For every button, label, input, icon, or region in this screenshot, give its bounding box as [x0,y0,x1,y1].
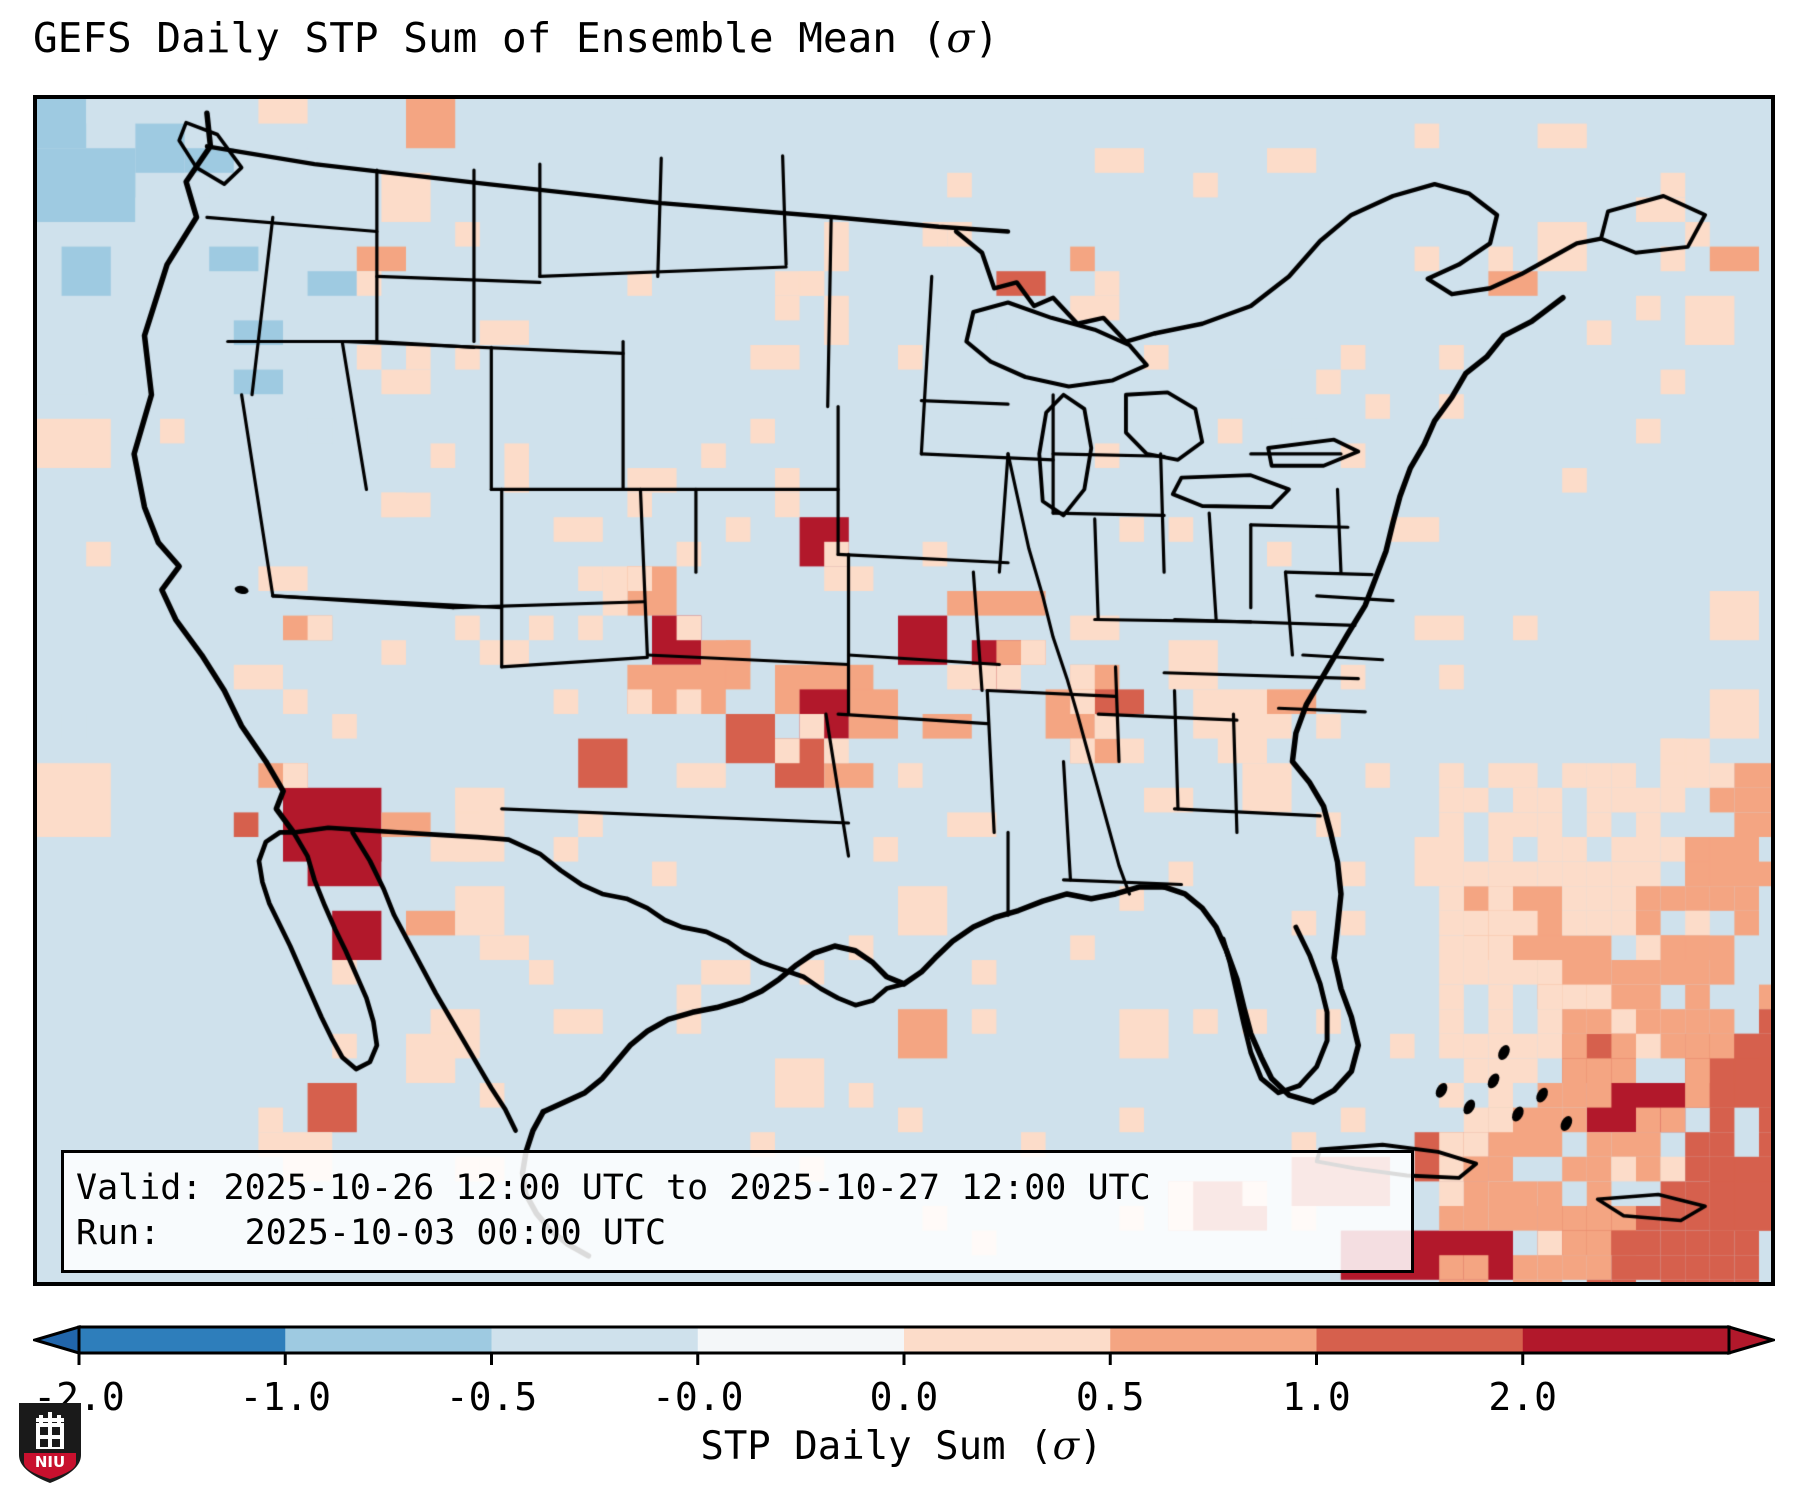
colorbar-tick-labels: -2.0-1.0-0.5-0.00.00.51.02.0 [33,1375,1775,1421]
colorbar-tick-10: -1.0 [239,1375,331,1419]
title-suffix: ) [974,14,999,62]
colorbar-tick-00: 0.0 [870,1375,939,1419]
run-time-line: Run: 2025-10-03 00:00 UTC [76,1211,1399,1256]
cbar-label-suffix: ) [1079,1424,1102,1469]
colorbar-axis-label: STP Daily Sum (σ) [0,1424,1803,1469]
cbar-label-prefix: STP Daily Sum ( [700,1424,1052,1469]
colorbar-tick-05: -0.5 [446,1375,538,1419]
page-title: GEFS Daily STP Sum of Ensemble Mean (σ) [33,14,999,62]
niu-logo: NIU [17,1401,83,1485]
colorbar-gradient[interactable] [33,1319,1775,1365]
valid-time-line: Valid: 2025-10-26 12:00 UTC to 2025-10-2… [76,1166,1399,1211]
colorbar-tick-00: -0.0 [652,1375,744,1419]
map-plot-area[interactable] [33,95,1775,1286]
colorbar-tick-20: 2.0 [1488,1375,1557,1419]
colorbar[interactable] [33,1319,1775,1365]
sigma-symbol: σ [946,14,974,62]
title-prefix: GEFS Daily STP Sum of Ensemble Mean ( [33,14,946,62]
anomaly-heatmap-canvas[interactable] [37,99,1771,1282]
sigma-symbol-cbar: σ [1053,1424,1080,1469]
colorbar-tick-05: 0.5 [1076,1375,1145,1419]
colorbar-tick-10: 1.0 [1282,1375,1351,1419]
niu-logo-text: NIU [35,1453,65,1471]
figure-canvas: GEFS Daily STP Sum of Ensemble Mean (σ) … [0,0,1803,1506]
forecast-info-box: Valid: 2025-10-26 12:00 UTC to 2025-10-2… [61,1150,1414,1273]
